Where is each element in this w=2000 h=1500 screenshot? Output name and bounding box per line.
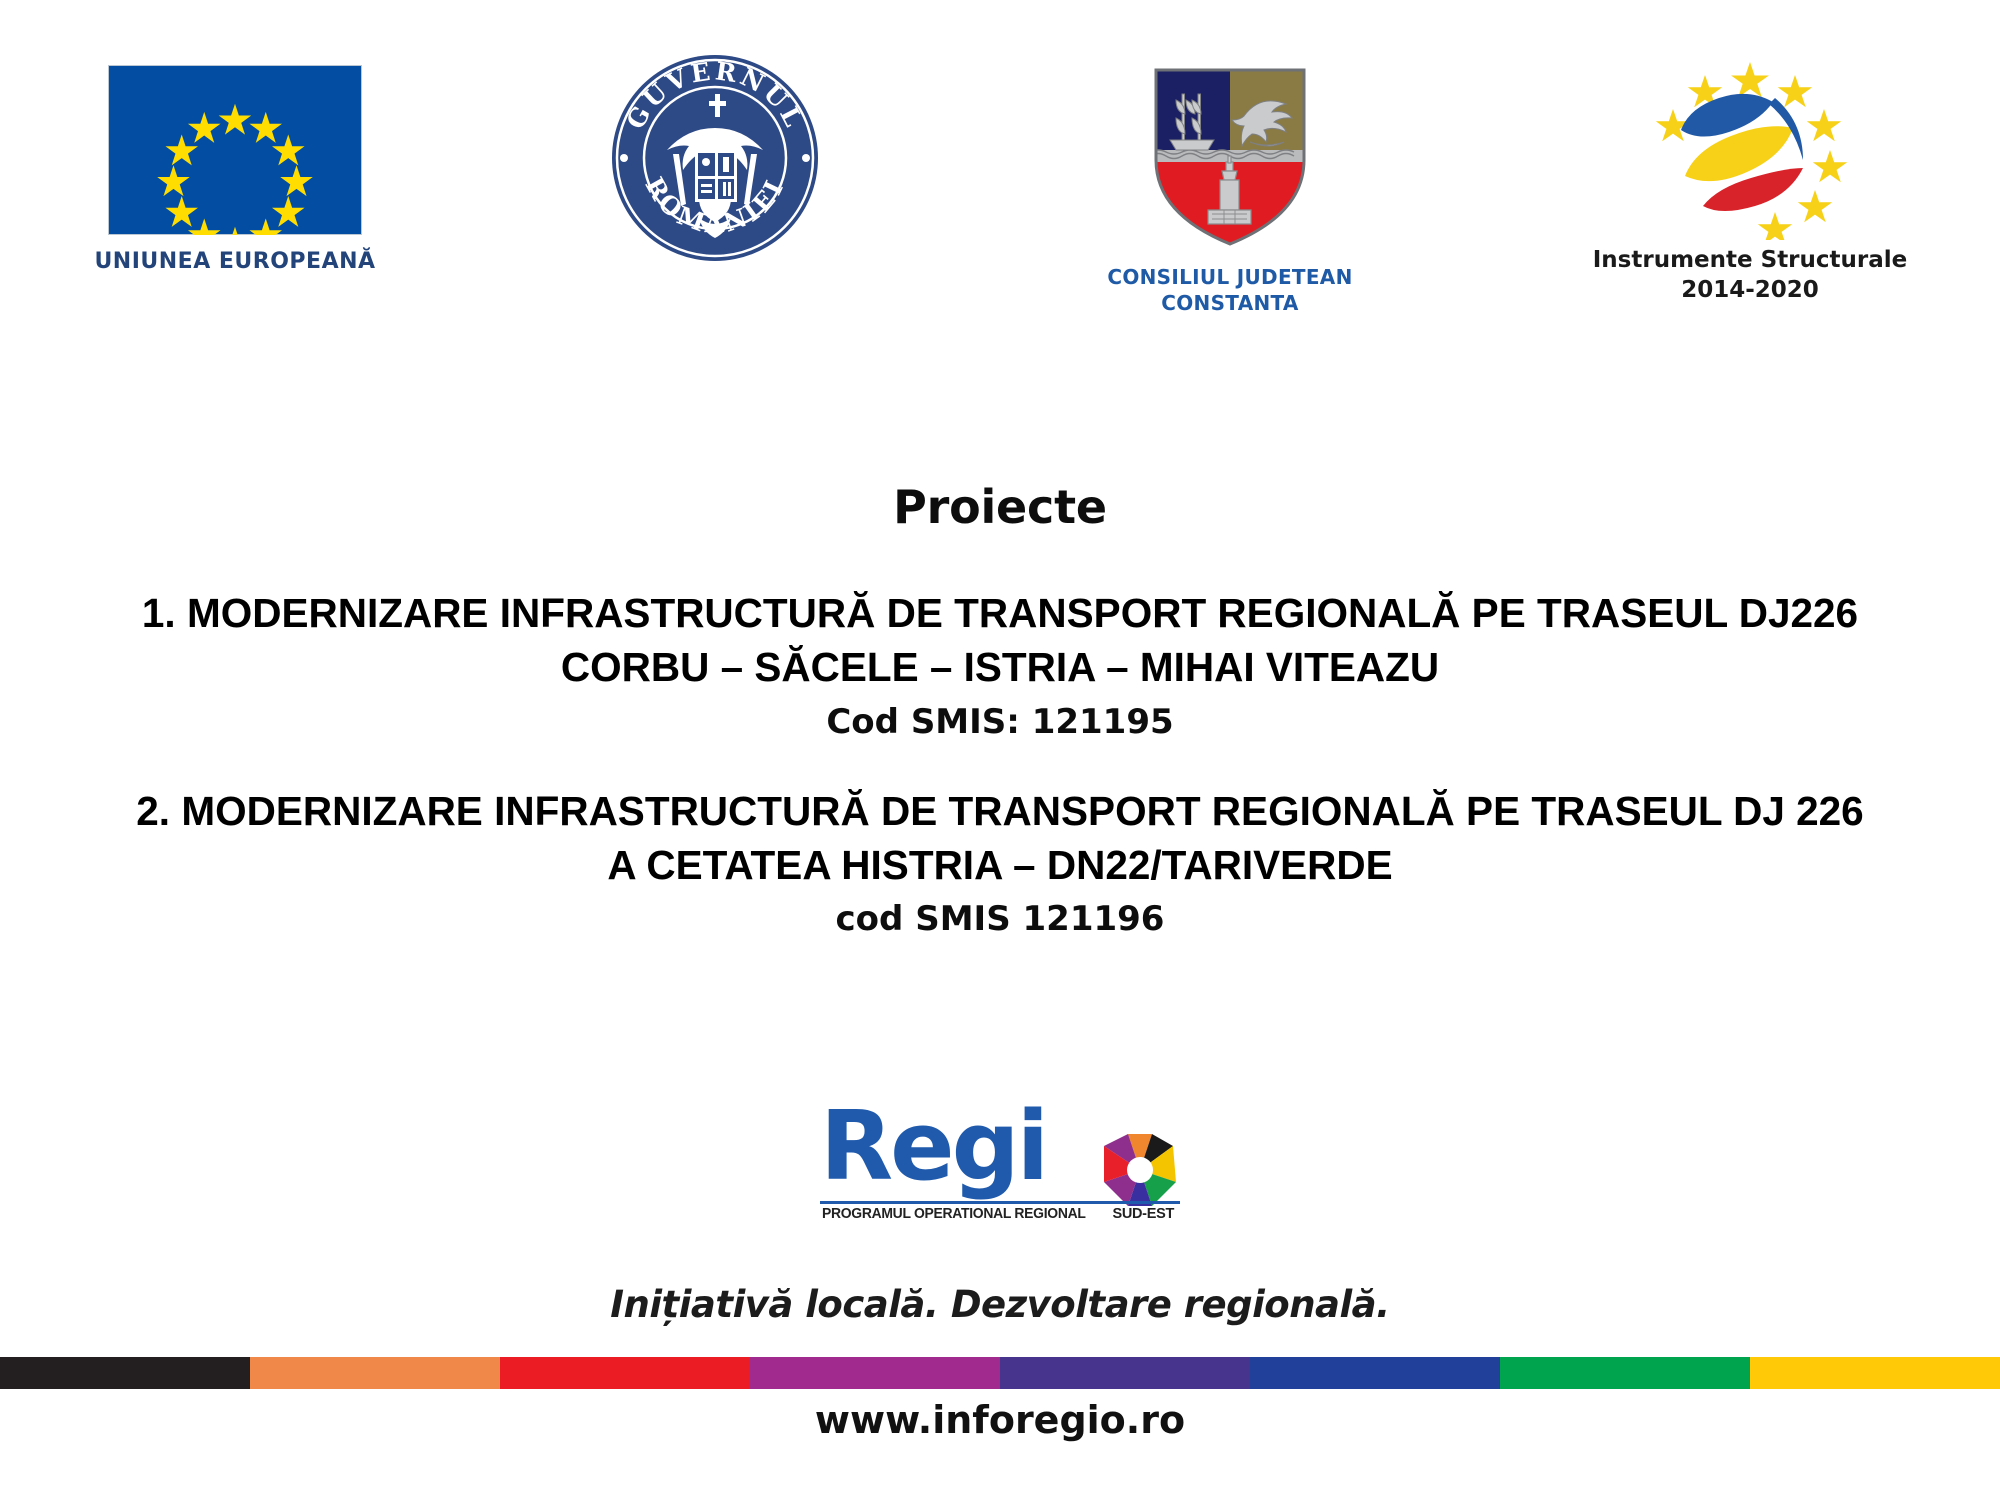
project-number: 1. [142, 590, 176, 636]
regio-subtitle-right: SUD-EST [1112, 1206, 1174, 1222]
website-url[interactable]: www.inforegio.ro [0, 1398, 2000, 1442]
project-smis-code: Cod SMIS: 121195 [0, 702, 2000, 742]
regio-wordmark: Regi [820, 1100, 1046, 1195]
county-council-caption: CONSILIUL JUDETEAN CONSTANTA [1107, 265, 1352, 316]
regio-logo: Regi PROGRAMUL OPERATIONAL REGIONAL SUD-… [820, 1108, 1180, 1216]
logo-bar: UNIUNEA EUROPEANĂ GUVERNUL [0, 50, 2000, 350]
regio-octagon-icon [1100, 1130, 1180, 1210]
project-smis-code: cod SMIS 121196 [0, 899, 2000, 939]
project-list: 1. MODERNIZARE INFRASTRUCTURĂ DE TRANSPO… [0, 586, 2000, 939]
guvernul-romaniei-seal-icon: GUVERNUL ROMÂNIEI [607, 50, 823, 266]
structural-instruments-caption: Instrumente Structurale 2014-2020 [1593, 246, 1908, 306]
color-bar-segment [1000, 1357, 1250, 1389]
regio-underline [820, 1201, 1180, 1204]
constanta-coat-of-arms-icon [1150, 64, 1310, 249]
project-heading: 1. MODERNIZARE INFRASTRUCTURĂ DE TRANSPO… [0, 586, 2000, 695]
project-title: MODERNIZARE INFRASTRUCTURĂ DE TRANSPORT … [181, 788, 1863, 888]
eu-stars-icon [109, 66, 361, 235]
color-bar-segment [0, 1357, 250, 1389]
tagline: Inițiativă locală. Dezvoltare regională. [0, 1283, 2000, 1326]
government-logo-block: GUVERNUL ROMÂNIEI [470, 50, 960, 266]
county-council-logo-block: CONSILIUL JUDETEAN CONSTANTA [960, 50, 1500, 316]
project-title: MODERNIZARE INFRASTRUCTURĂ DE TRANSPORT … [187, 590, 1858, 690]
project-item: 2. MODERNIZARE INFRASTRUCTURĂ DE TRANSPO… [0, 784, 2000, 940]
footer-color-bar [0, 1357, 2000, 1389]
county-council-caption-line2: CONSTANTA [1107, 291, 1352, 317]
project-item: 1. MODERNIZARE INFRASTRUCTURĂ DE TRANSPO… [0, 586, 2000, 742]
page-title: Proiecte [0, 480, 2000, 534]
regio-subtitle-left: PROGRAMUL OPERATIONAL REGIONAL [822, 1206, 1086, 1222]
structural-instruments-caption-line2: 2014-2020 [1593, 276, 1908, 306]
project-number: 2. [136, 788, 170, 834]
color-bar-segment [1250, 1357, 1500, 1389]
color-bar-segment [1500, 1357, 1750, 1389]
eu-flag-icon [108, 65, 362, 235]
presentation-slide: UNIUNEA EUROPEANĂ GUVERNUL [0, 0, 2000, 1500]
color-bar-segment [500, 1357, 750, 1389]
color-bar-segment [1750, 1357, 2000, 1389]
eu-logo-block: UNIUNEA EUROPEANĂ [0, 50, 470, 274]
instrumente-structurale-icon [1625, 50, 1875, 240]
structural-instruments-logo-block: Instrumente Structurale 2014-2020 [1500, 50, 2000, 306]
county-council-caption-line1: CONSILIUL JUDETEAN [1107, 265, 1352, 291]
color-bar-segment [750, 1357, 1000, 1389]
project-heading: 2. MODERNIZARE INFRASTRUCTURĂ DE TRANSPO… [0, 784, 2000, 893]
structural-instruments-caption-line1: Instrumente Structurale [1593, 246, 1908, 276]
slide-content: Proiecte 1. MODERNIZARE INFRASTRUCTURĂ D… [0, 480, 2000, 981]
regio-logo-block: Regi PROGRAMUL OPERATIONAL REGIONAL SUD-… [0, 1108, 2000, 1221]
eu-logo-caption: UNIUNEA EUROPEANĂ [94, 249, 375, 274]
color-bar-segment [250, 1357, 500, 1389]
